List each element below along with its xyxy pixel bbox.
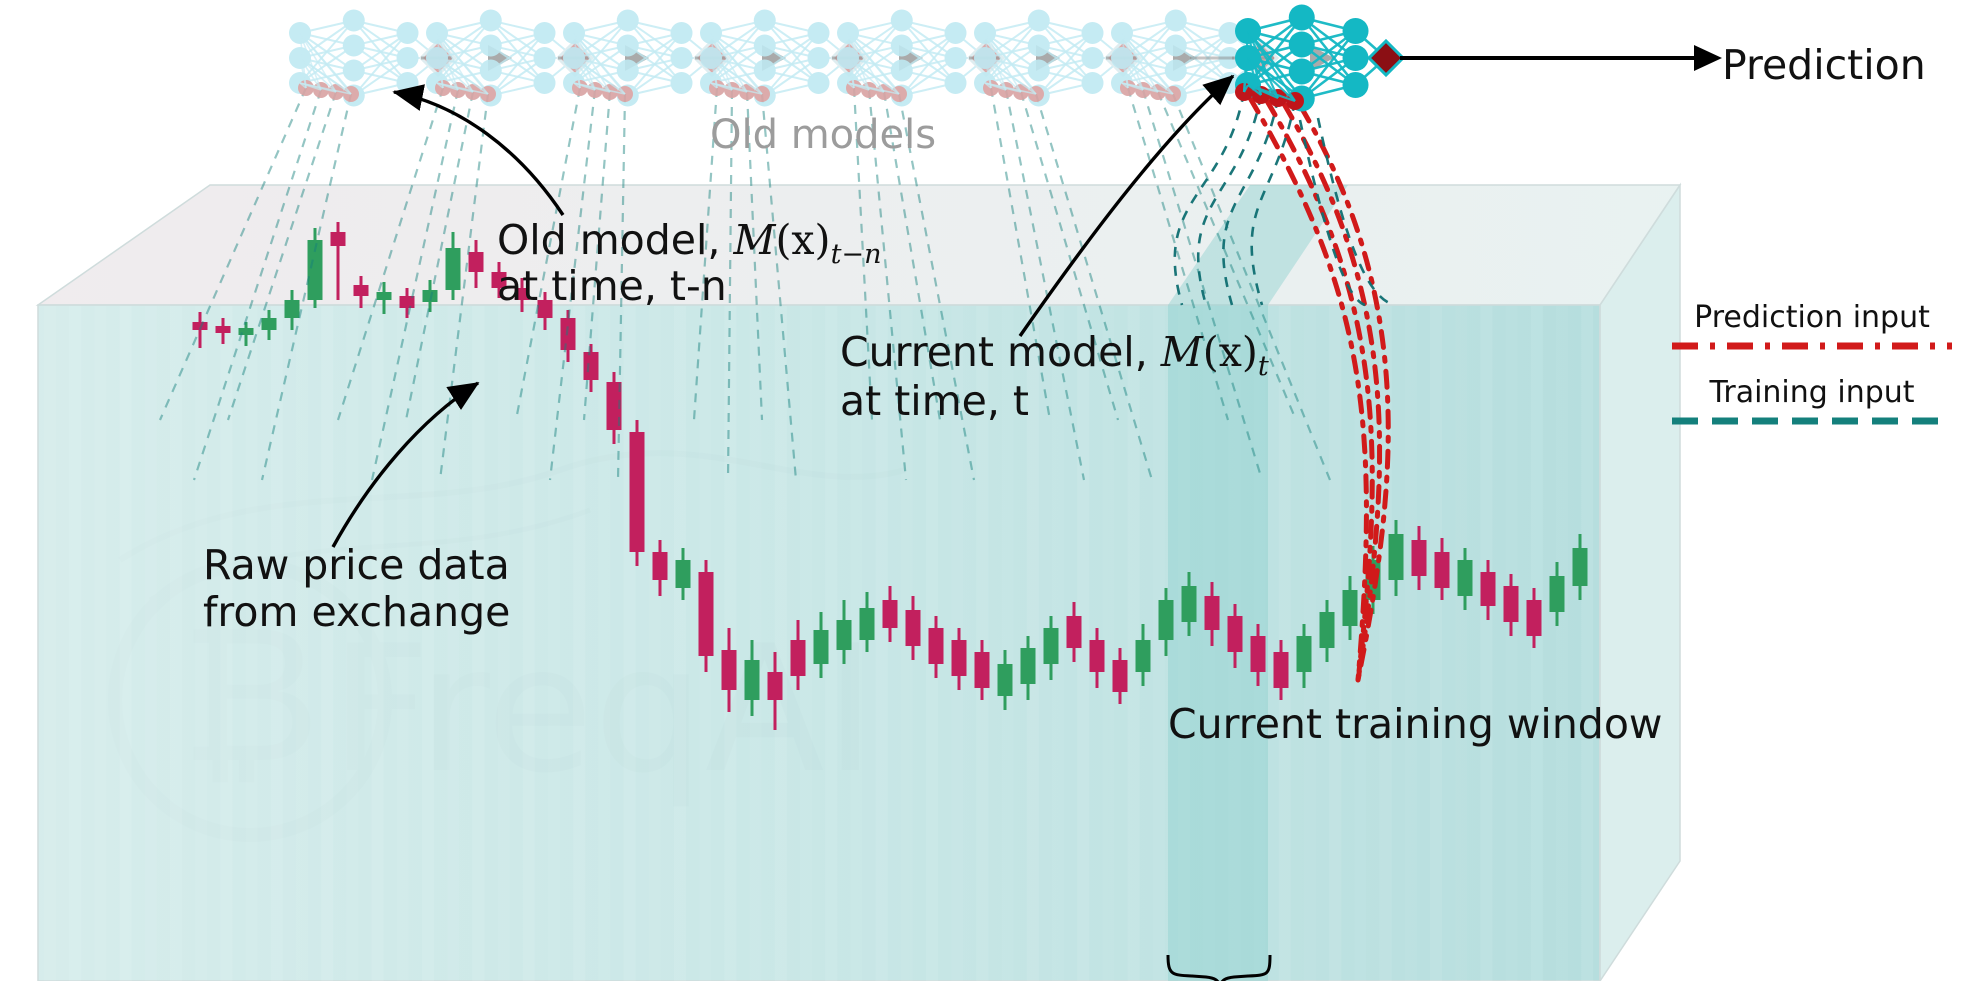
brace-training-window xyxy=(1168,955,1270,981)
current-training-window-label: Current training window xyxy=(1168,700,1662,748)
old-model-math-M: M xyxy=(733,216,775,264)
raw-price-annotation-line2: from exchange xyxy=(203,588,510,636)
prediction-label: Prediction xyxy=(1722,41,1926,89)
legend-item-training-input-label: Training input xyxy=(1662,375,1962,410)
legend: Prediction input Training input xyxy=(1662,300,1962,436)
arrow-old-model xyxy=(394,92,563,215)
old-models-label: Old models xyxy=(710,112,936,158)
current-model-math-x: (x) xyxy=(1203,328,1258,376)
arrow-current-model xyxy=(1020,76,1233,336)
current-model-math-subscript: t xyxy=(1258,351,1269,382)
legend-item-prediction-input-label: Prediction input xyxy=(1662,300,1962,335)
old-model-math-x: (x) xyxy=(775,216,830,264)
current-model-math-M: M xyxy=(1161,328,1203,376)
old-model-math-subscript: t−n xyxy=(831,239,882,270)
old-model-annotation-line2: at time, t-n xyxy=(497,262,727,310)
arrow-raw-price xyxy=(333,383,478,547)
current-model-text-pre: Current model, xyxy=(840,328,1161,376)
diagram-canvas: ₿ FreqAI xyxy=(0,0,1966,981)
current-model-annotation: Current model, M(x)t xyxy=(840,328,1269,382)
legend-swatch-prediction-input xyxy=(1662,335,1962,357)
old-model-text-pre: Old model, xyxy=(497,216,733,264)
current-model-annotation-line2: at time, t xyxy=(840,377,1029,425)
annotation-layer xyxy=(0,0,1966,981)
legend-swatch-training-input xyxy=(1662,410,1962,432)
raw-price-annotation-line1: Raw price data xyxy=(203,541,510,589)
